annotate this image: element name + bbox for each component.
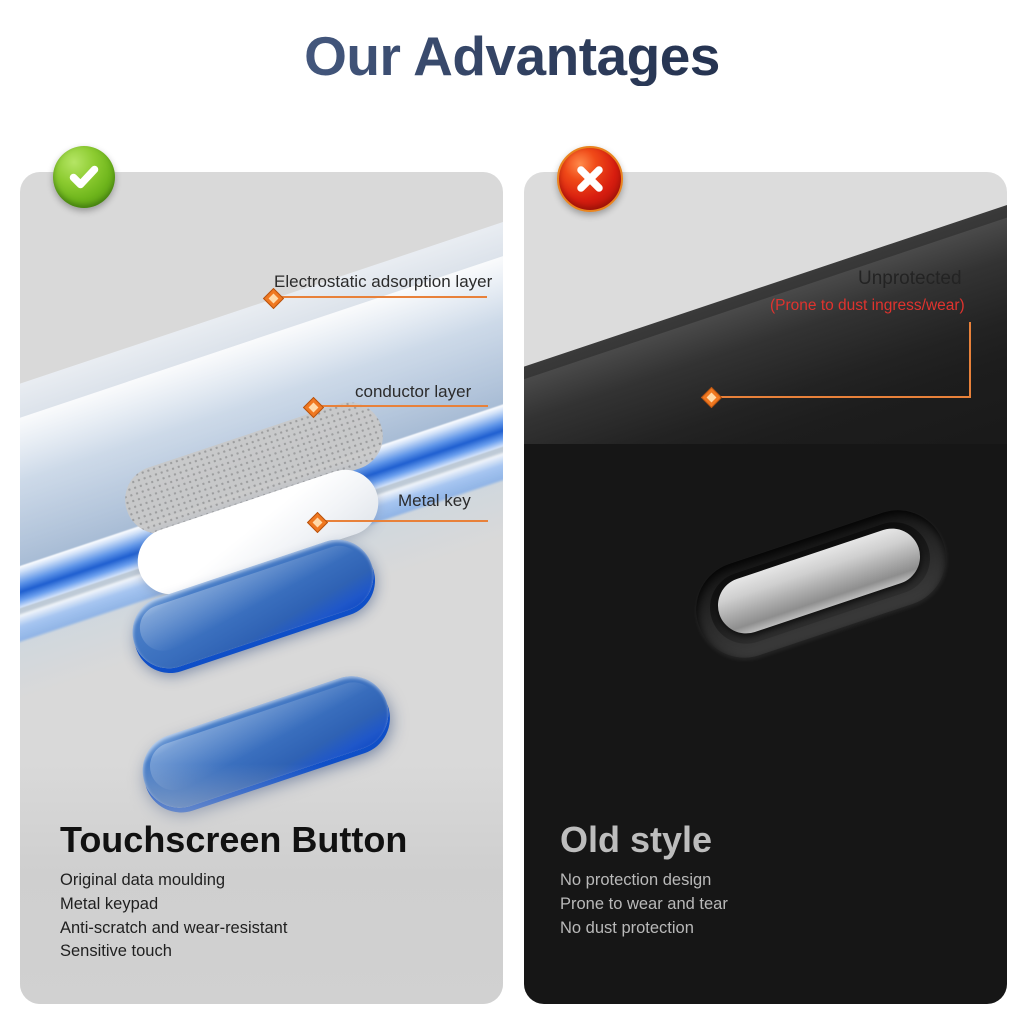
- callout-label-metal-key: Metal key: [398, 491, 471, 511]
- good-summary-block: Touchscreen Button Original data mouldin…: [60, 820, 407, 964]
- good-feature-item: Anti-scratch and wear-resistant: [60, 917, 407, 941]
- good-feature-item: Original data moulding: [60, 869, 407, 893]
- bad-feature-item: No dust protection: [560, 917, 728, 941]
- callout-leader-metal-key: [322, 520, 488, 522]
- page-title: Our Advantages: [0, 28, 1024, 86]
- good-feature-list: Original data moulding Metal keypad Anti…: [60, 869, 407, 963]
- good-heading: Touchscreen Button: [60, 820, 407, 860]
- callout-leader-electrostatic: [277, 296, 487, 298]
- bad-feature-list: No protection design Prone to wear and t…: [560, 869, 728, 940]
- cross-circle-icon: [557, 146, 623, 212]
- callout-label-conductor: conductor layer: [355, 382, 471, 402]
- check-circle-icon: [53, 146, 115, 208]
- callout-label-unprotected: Unprotected: [858, 268, 962, 290]
- callout-leader-unprotected-horizontal: [716, 396, 970, 398]
- callout-sublabel-unprotected: (Prone to dust ingress/wear): [770, 297, 965, 315]
- bad-summary-block: Old style No protection design Prone to …: [560, 820, 728, 940]
- bad-heading: Old style: [560, 820, 728, 860]
- good-feature-item: Sensitive touch: [60, 940, 407, 964]
- callout-label-electrostatic: Electrostatic adsorption layer: [274, 272, 492, 292]
- callout-leader-unprotected-vertical: [969, 322, 971, 398]
- good-feature-item: Metal keypad: [60, 893, 407, 917]
- bad-feature-item: No protection design: [560, 869, 728, 893]
- callout-leader-conductor: [318, 405, 488, 407]
- bad-feature-item: Prone to wear and tear: [560, 893, 728, 917]
